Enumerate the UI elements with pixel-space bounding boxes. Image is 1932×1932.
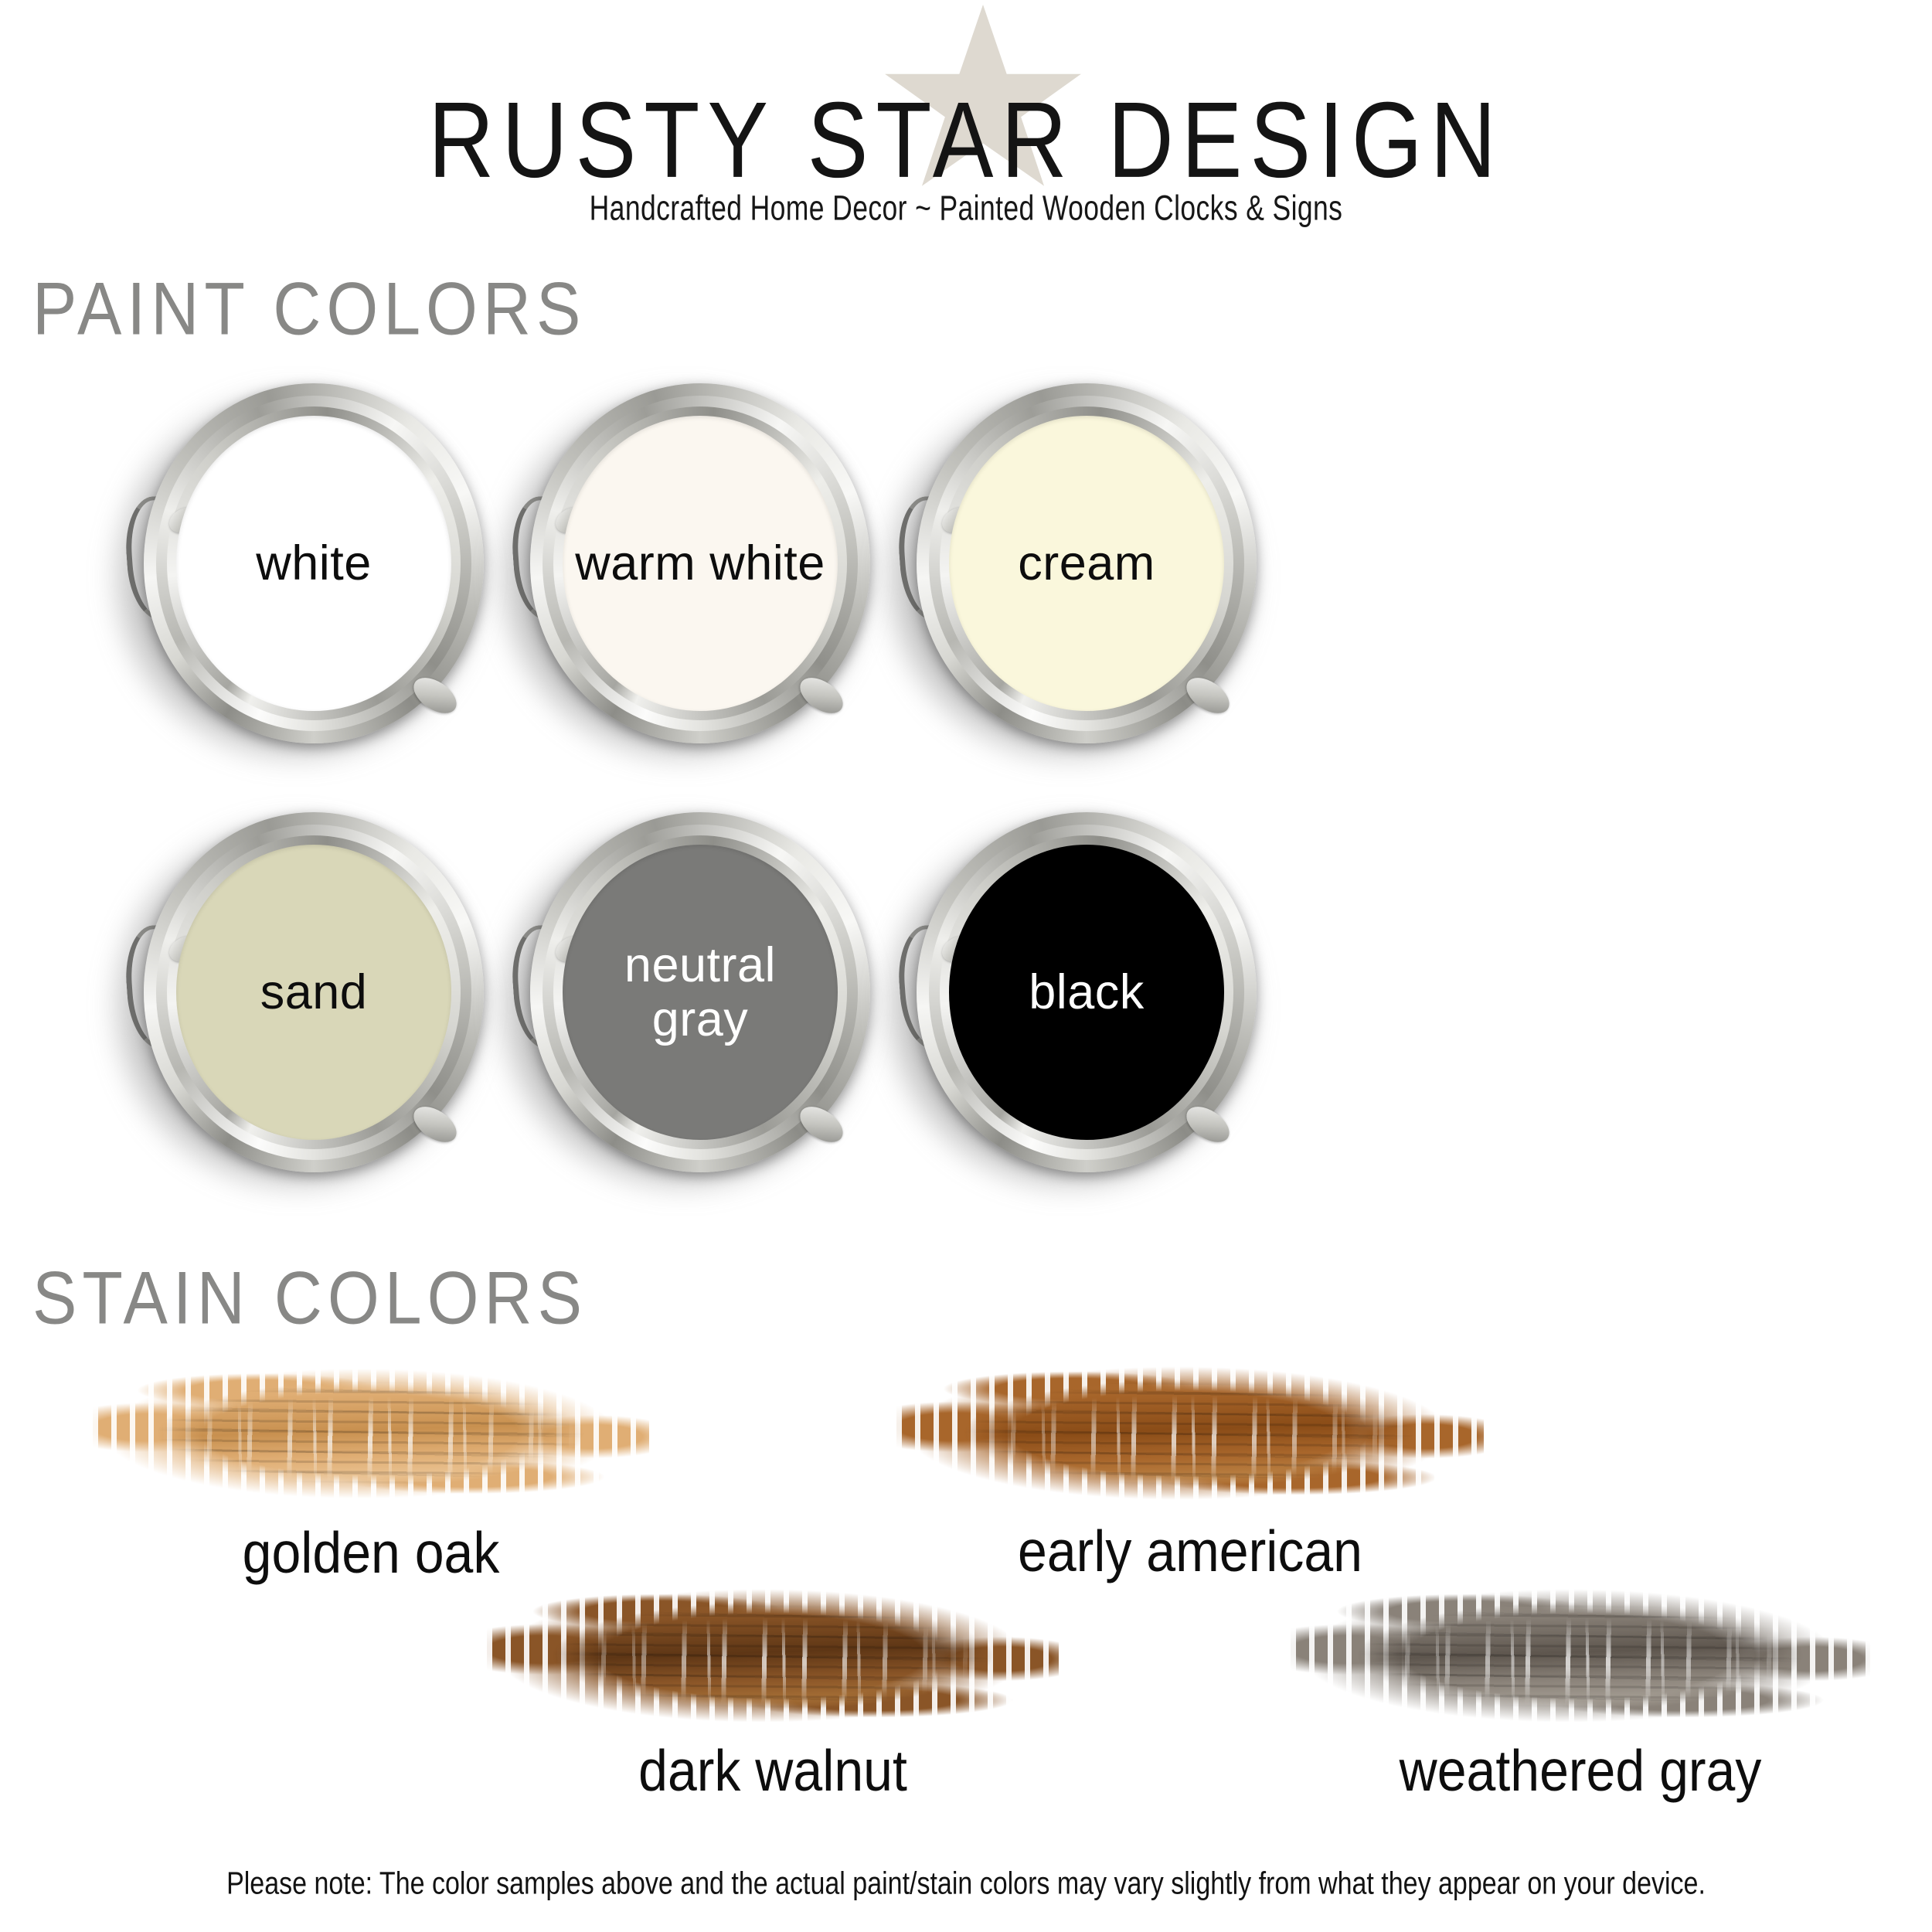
stain-edge-streaks [1291, 1577, 1870, 1735]
disclaimer-note: Please note: The color samples above and… [0, 1864, 1932, 1903]
stain-swatch-weathered-gray[interactable] [1291, 1577, 1870, 1735]
stain-color-label-weathered-gray: weathered gray [1283, 1739, 1878, 1804]
paint-swatch: cream [949, 416, 1224, 711]
paint-can-white[interactable]: white [124, 379, 495, 750]
stain-edge-streaks [896, 1354, 1484, 1512]
paint-color-label: warm white [567, 536, 833, 590]
paint-color-label: cream [1010, 536, 1163, 590]
stain-brush-stroke [93, 1356, 649, 1511]
paint-swatch: white [176, 416, 451, 711]
paint-can-warm-white[interactable]: warm white [510, 379, 881, 750]
paint-can-neutral-gray[interactable]: neutral gray [510, 808, 881, 1179]
stain-brush-stroke [896, 1354, 1484, 1512]
paint-color-label: neutral gray [563, 938, 838, 1046]
paint-swatch: neutral gray [563, 845, 838, 1140]
paint-can-sand[interactable]: sand [124, 808, 495, 1179]
stain-brush-stroke [1291, 1577, 1870, 1735]
paint-can-black[interactable]: black [896, 808, 1267, 1179]
stain-brush-stroke [487, 1577, 1059, 1735]
stain-color-label-early-american: early american [889, 1519, 1492, 1584]
brand-title: RUSTY STAR DESIGN [0, 87, 1932, 194]
stain-color-label-dark-walnut: dark walnut [479, 1739, 1066, 1804]
paint-swatch: black [949, 845, 1224, 1140]
stain-swatch-dark-walnut[interactable] [487, 1577, 1059, 1735]
paint-color-chart-page: RUSTY STAR DESIGN Handcrafted Home Decor… [0, 0, 1932, 1932]
stain-swatch-golden-oak[interactable] [93, 1356, 649, 1511]
paint-swatch: warm white [563, 416, 838, 711]
paint-color-label: sand [253, 965, 376, 1019]
paint-color-label: black [1021, 965, 1152, 1019]
page-header: RUSTY STAR DESIGN Handcrafted Home Decor… [0, 0, 1932, 294]
stain-edge-streaks [487, 1577, 1059, 1735]
paint-can-cream[interactable]: cream [896, 379, 1267, 750]
paint-colors-heading: PAINT COLORS [32, 272, 586, 346]
paint-swatch: sand [176, 845, 451, 1140]
brand-tagline: Handcrafted Home Decor ~ Painted Wooden … [39, 188, 1893, 230]
stain-colors-heading: STAIN COLORS [32, 1261, 587, 1335]
stain-edge-streaks [93, 1356, 649, 1511]
paint-color-label: white [248, 536, 379, 590]
stain-swatch-early-american[interactable] [896, 1354, 1484, 1512]
